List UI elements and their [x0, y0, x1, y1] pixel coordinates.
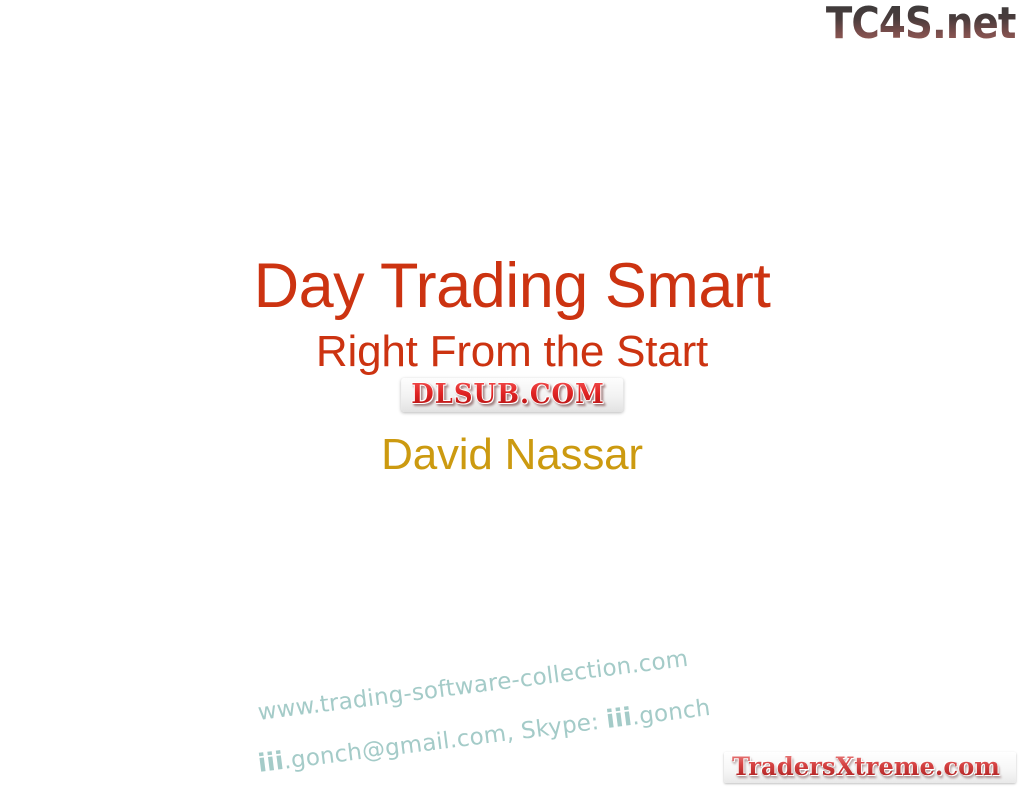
tc4s-logo: TC4S.net: [826, 2, 1016, 46]
tradersxtreme-logo-text: TradersXtreme.com: [732, 754, 1000, 780]
page-subtitle: Right From the Start: [0, 330, 1024, 374]
page-title: Day Trading Smart: [0, 254, 1024, 318]
tradersxtreme-logo-badge: TradersXtreme.com: [724, 752, 1016, 783]
title-block: Day Trading Smart Right From the Start: [0, 254, 1024, 374]
site-watermark-skype-suffix: .gonch: [630, 695, 712, 731]
site-watermark-skype-prefix: ііі: [604, 702, 633, 734]
site-watermark-email-prefix: ііі: [256, 746, 285, 778]
dlsub-watermark-badge: DLSUB.COM: [401, 378, 623, 412]
site-watermark-email-body: .gonch@gmail.com, Skype:: [282, 708, 608, 775]
presentation-slide: TC4S.net Day Trading Smart Right From th…: [0, 0, 1024, 791]
author-name: David Nassar: [0, 433, 1024, 477]
dlsub-watermark-text: DLSUB.COM: [411, 381, 605, 408]
